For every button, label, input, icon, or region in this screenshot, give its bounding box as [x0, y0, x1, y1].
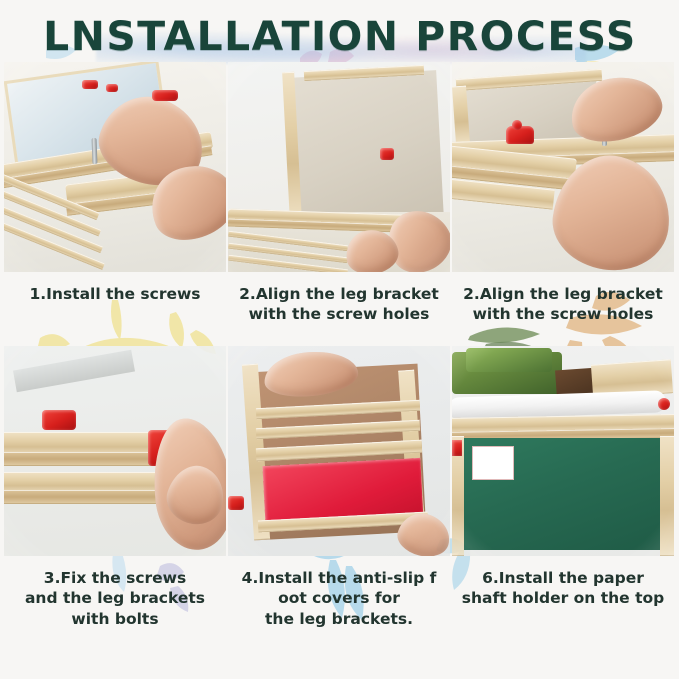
step-5-caption: 4.Install the anti-slip f oot covers for…	[228, 568, 450, 629]
step-1-caption: 1.Install the screws	[4, 284, 226, 304]
step-2-align-leg-bracket-photo	[228, 62, 450, 272]
step-card-5: 4.Install the anti-slip f oot covers for…	[228, 346, 450, 629]
step-card-2: 2.Align the leg bracket with the screw h…	[228, 62, 450, 325]
step-card-3: 2.Align the leg bracket with the screw h…	[452, 62, 674, 325]
installation-process-infographic: LNSTALLATION PROCESS	[0, 0, 679, 679]
page-title-container: LNSTALLATION PROCESS	[0, 8, 679, 66]
step-4-caption: 3.Fix the screws and the leg brackets wi…	[4, 568, 226, 629]
step-6-install-paper-shaft-holder-photo	[452, 346, 674, 556]
step-card-4: 3.Fix the screws and the leg brackets wi…	[4, 346, 226, 629]
step-1-install-screws-photo	[4, 62, 226, 272]
step-card-1: 1.Install the screws	[4, 62, 226, 304]
step-4-fix-screws-leg-brackets-photo	[4, 346, 226, 556]
step-2-caption: 2.Align the leg bracket with the screw h…	[228, 284, 450, 325]
step-3-caption: 2.Align the leg bracket with the screw h…	[452, 284, 674, 325]
step-card-6: 6.Install the paper shaft holder on the …	[452, 346, 674, 609]
steps-grid: 1.Install the screws	[0, 62, 679, 662]
page-title: LNSTALLATION PROCESS	[43, 14, 637, 60]
step-3-align-leg-bracket-photo	[452, 62, 674, 272]
step-6-caption: 6.Install the paper shaft holder on the …	[452, 568, 674, 609]
step-5-install-anti-slip-foot-covers-photo	[228, 346, 450, 556]
